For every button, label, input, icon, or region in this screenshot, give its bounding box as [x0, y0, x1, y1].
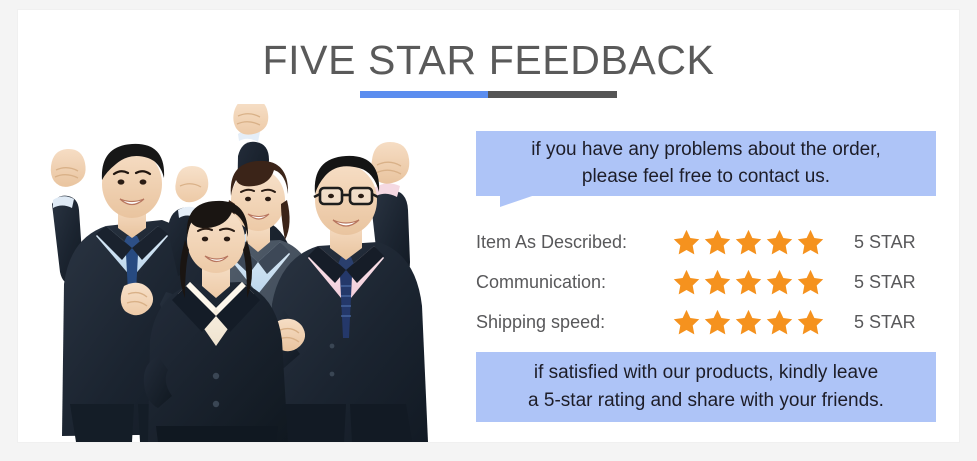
leave-rating-message-box: if satisfied with our products, kindly l… [476, 352, 936, 422]
five-star-feedback-banner: FIVE STAR FEEDBACK [0, 0, 977, 461]
star-rating [672, 268, 832, 296]
star-icon [796, 268, 825, 296]
star-icon [703, 228, 732, 256]
star-icon [734, 268, 763, 296]
rating-value: 5 STAR [854, 272, 916, 293]
star-icon [765, 268, 794, 296]
rating-row: Communication: 5 STAR [476, 262, 936, 302]
star-icon [672, 268, 701, 296]
ratings-list: Item As Described: 5 STAR Communication:… [476, 222, 936, 342]
star-icon [796, 228, 825, 256]
rating-row: Item As Described: 5 STAR [476, 222, 936, 262]
rating-label: Shipping speed: [476, 312, 672, 333]
rating-value: 5 STAR [854, 232, 916, 253]
leave-rating-line-2: a 5-star rating and share with your frie… [528, 387, 884, 415]
title-underline-gray [488, 91, 617, 98]
star-icon [796, 308, 825, 336]
contact-message-text: if you have any problems about the order… [525, 137, 887, 191]
contact-message-bubble: if you have any problems about the order… [476, 131, 936, 196]
rating-row: Shipping speed: 5 STAR [476, 302, 936, 342]
rating-label: Item As Described: [476, 232, 672, 253]
leave-rating-line-1: if satisfied with our products, kindly l… [528, 359, 884, 387]
rating-value: 5 STAR [854, 312, 916, 333]
title-underline-blue [360, 91, 488, 98]
rating-label: Communication: [476, 272, 672, 293]
star-icon [672, 308, 701, 336]
star-icon [703, 268, 732, 296]
team-celebration-photo [20, 104, 454, 442]
leave-rating-message-text: if satisfied with our products, kindly l… [522, 359, 890, 414]
star-rating [672, 228, 832, 256]
contact-message-line-1: if you have any problems about the order… [531, 137, 881, 164]
star-icon [734, 228, 763, 256]
page-title: FIVE STAR FEEDBACK [0, 38, 977, 83]
star-icon [765, 308, 794, 336]
star-icon [734, 308, 763, 336]
star-rating [672, 308, 832, 336]
speech-bubble-tail-icon [476, 194, 546, 208]
star-icon [672, 228, 701, 256]
star-icon [703, 308, 732, 336]
star-icon [765, 228, 794, 256]
contact-message-line-2: please feel free to contact us. [531, 164, 881, 191]
